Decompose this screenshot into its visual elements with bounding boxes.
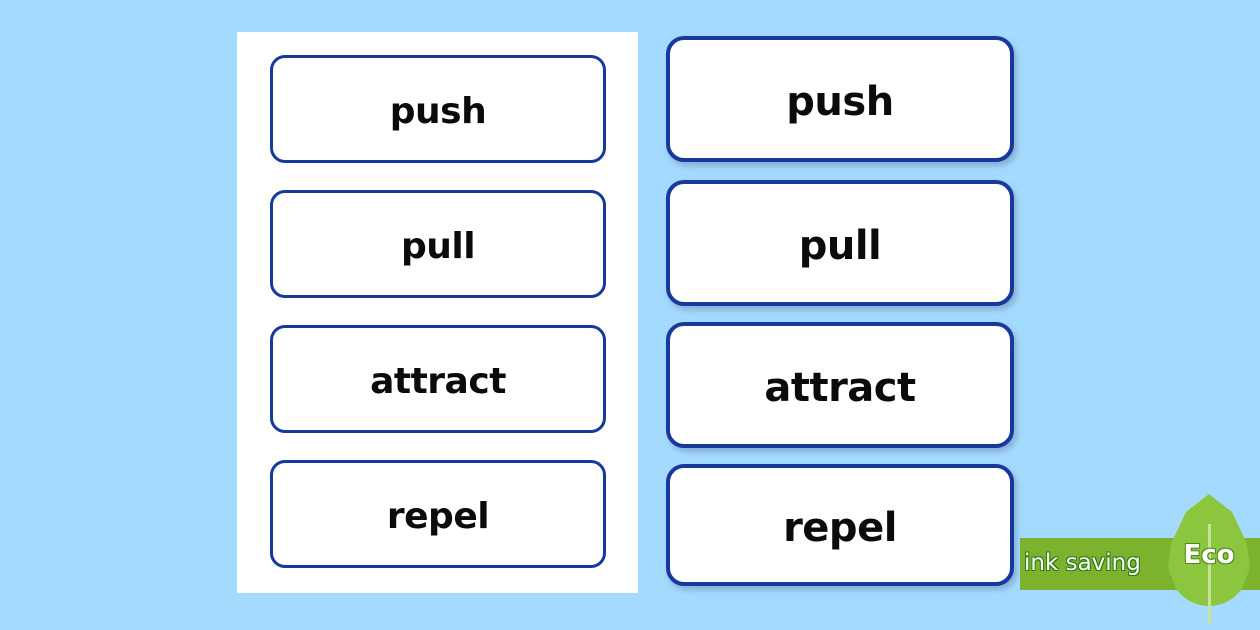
- eco-ink-saving-badge: ink saving Eco: [1020, 538, 1260, 590]
- word-card-sheet-item-repel[interactable]: repel: [270, 460, 606, 568]
- word-label: repel: [387, 493, 489, 535]
- word-card-sheet-item-push[interactable]: push: [270, 55, 606, 163]
- word-label: repel: [783, 502, 897, 548]
- word-label: attract: [370, 358, 506, 400]
- word-label: push: [390, 88, 486, 130]
- eco-label: Eco: [1168, 540, 1250, 570]
- word-card-sheet: push pull attract repel: [238, 33, 637, 592]
- word-card-pull[interactable]: pull: [666, 180, 1014, 306]
- word-label: pull: [799, 220, 882, 266]
- word-card-repel[interactable]: repel: [666, 464, 1014, 586]
- word-card-sheet-item-attract[interactable]: attract: [270, 325, 606, 433]
- ink-saving-label: ink saving: [1024, 550, 1174, 576]
- word-label: attract: [764, 362, 915, 408]
- word-label: pull: [401, 223, 475, 265]
- word-card-sheet-item-pull[interactable]: pull: [270, 190, 606, 298]
- word-card-push[interactable]: push: [666, 36, 1014, 162]
- screenshot-canvas: push pull attract repel push pull attrac…: [0, 0, 1260, 630]
- leaf-vein-icon: [1208, 524, 1211, 624]
- word-label: push: [786, 76, 893, 122]
- eco-leaf-icon: Eco: [1168, 494, 1250, 624]
- word-card-attract[interactable]: attract: [666, 322, 1014, 448]
